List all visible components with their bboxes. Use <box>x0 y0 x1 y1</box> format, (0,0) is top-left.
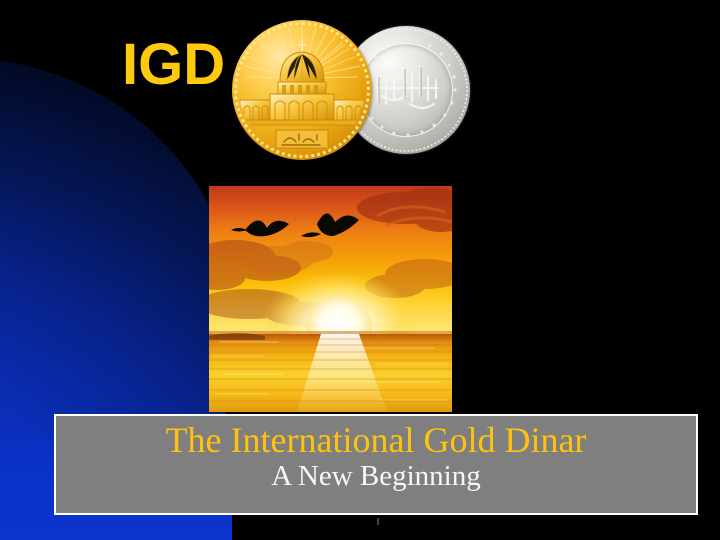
coin-pair-graphic <box>232 20 477 160</box>
gold-dinar-coin <box>232 20 372 160</box>
igd-wordmark: IGD <box>122 36 225 94</box>
slide-title: The International Gold Dinar <box>166 422 587 459</box>
stray-artifact-mark <box>377 518 379 525</box>
title-bar: The International Gold Dinar A New Begin… <box>54 414 698 515</box>
sunset-over-water-photo <box>209 186 452 412</box>
slide-subtitle: A New Beginning <box>271 461 480 491</box>
dome-of-the-rock-icon <box>232 20 372 160</box>
presentation-slide: IGD <box>0 0 720 540</box>
sunset-illustration <box>209 186 452 412</box>
